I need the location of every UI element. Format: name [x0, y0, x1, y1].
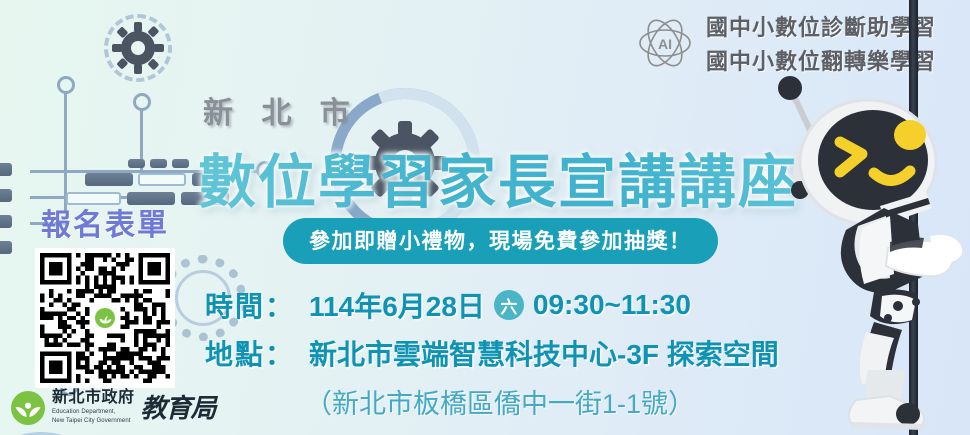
astronaut-robot-mascot — [770, 70, 970, 435]
ai-program-line-1: 國中小數位診斷助學習 — [706, 10, 936, 42]
promo-banner: AI 國中小數位診斷助學習 國中小數位翻轉樂學習 新 北 市 數位學習家長宣講講… — [0, 0, 970, 435]
chip-bar — [0, 241, 12, 254]
circuit-node-icon — [57, 76, 75, 94]
circuit-wire — [64, 93, 67, 213]
ai-program-badge: AI 國中小數位診斷助學習 國中小數位翻轉樂學習 — [636, 10, 936, 76]
government-name-cn: 新北市政府 — [52, 390, 135, 406]
event-time-range: 09:30~11:30 — [533, 289, 691, 321]
government-logo: 新北市政府 Education Department, New Taipei C… — [10, 388, 216, 427]
registration-qr-block[interactable]: 報名表單 — [22, 200, 188, 388]
qr-center-leaf-icon — [92, 305, 118, 331]
qr-code[interactable] — [35, 248, 175, 388]
deco-bar — [138, 173, 186, 186]
event-venue: 新北市雲端智慧科技中心-3F 探索空間 — [309, 333, 779, 373]
promo-pill-badge: 參加即贈小禮物，現場免費參加抽獎！ — [283, 218, 718, 264]
department-name: 教育局 — [141, 388, 216, 425]
qr-title-label: 報名表單 — [22, 200, 188, 244]
robot-eye — [894, 120, 926, 150]
page-title: 數位學習家長宣講講座 — [198, 135, 798, 219]
chip-bar — [0, 215, 12, 228]
chip-bar — [0, 189, 12, 202]
event-date: 114年6月28日 — [309, 285, 485, 325]
event-address: （新北市板橋區僑中一街1-1號） — [305, 382, 695, 421]
circuit-node-icon — [133, 93, 151, 111]
time-label: 時間： — [205, 285, 295, 325]
deco-bar — [128, 159, 145, 168]
circuit-wire — [140, 110, 143, 172]
event-time-row: 時間： 114年6月28日 六 09:30~11:30 — [205, 285, 691, 325]
ai-atom-label: AI — [658, 36, 672, 52]
day-of-week-badge: 六 — [494, 290, 524, 320]
circuit-wire — [30, 196, 142, 199]
page-kicker: 新 北 市 — [203, 88, 360, 132]
place-label: 地點： — [205, 333, 295, 373]
robot-arm — [886, 235, 962, 276]
government-name-en-line2: New Taipei City Government — [52, 417, 135, 425]
ai-atom-icon: AI — [636, 14, 694, 72]
dashed-gear-icon — [104, 14, 172, 82]
deco-bar — [172, 159, 189, 168]
robot-antenna — [778, 76, 810, 130]
deco-bar — [85, 173, 133, 186]
deco-bar — [150, 159, 167, 168]
chip-bar — [0, 163, 12, 176]
government-name-en: Education Department, New Taipei City Go… — [52, 408, 135, 424]
green-leaf-icon — [10, 390, 46, 426]
event-place-row: 地點： 新北市雲端智慧科技中心-3F 探索空間 — [205, 333, 779, 373]
government-name-en-line1: Education Department, — [52, 408, 135, 416]
robot-boot — [849, 396, 926, 430]
